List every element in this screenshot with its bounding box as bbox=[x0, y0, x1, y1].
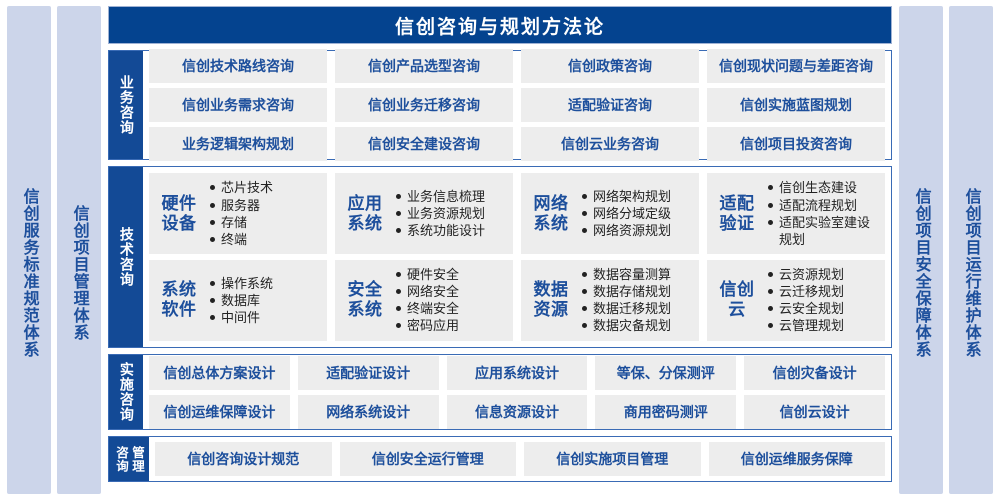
bullet-item: 云迁移规划 bbox=[767, 283, 877, 300]
card-title: 应用 系统 bbox=[343, 194, 387, 234]
chip-mgmt-0-0[interactable]: 信创咨询设计规范 bbox=[155, 442, 332, 476]
chip-impl-0-2[interactable]: 应用系统设计 bbox=[447, 356, 588, 390]
bullet-item: 网络架构规划 bbox=[581, 188, 691, 205]
bullet-item: 网络资源规划 bbox=[581, 222, 691, 239]
bullet-item: 存储 bbox=[209, 214, 319, 231]
bullet-item: 终端 bbox=[209, 231, 319, 248]
chip-impl-1-1[interactable]: 网络系统设计 bbox=[298, 395, 439, 429]
bullet-item: 云管理规划 bbox=[767, 317, 877, 334]
bullet-item: 中间件 bbox=[209, 309, 319, 326]
pillar-label: 信创项目安全保障体系 bbox=[912, 188, 929, 358]
section-technical-consulting: 技术咨询 硬件 设备 芯片技术 服务器 存储 终端 应用 系统 bbox=[108, 166, 892, 348]
chip-row: 信创咨询设计规范 信创安全运行管理 信创实施项目管理 信创运维服务保障 bbox=[155, 442, 885, 476]
chip-row: 信创技术路线咨询 信创产品选型咨询 信创政策咨询 信创现状问题与差距咨询 bbox=[149, 49, 885, 83]
section-business-consulting: 业务咨询 信创技术路线咨询 信创产品选型咨询 信创政策咨询 信创现状问题与差距咨… bbox=[108, 50, 892, 160]
chip-business-1-0[interactable]: 信创业务需求咨询 bbox=[149, 88, 327, 122]
card-hardware-devices[interactable]: 硬件 设备 芯片技术 服务器 存储 终端 bbox=[149, 173, 327, 254]
chip-impl-0-0[interactable]: 信创总体方案设计 bbox=[149, 356, 290, 390]
chip-mgmt-0-3[interactable]: 信创运维服务保障 bbox=[709, 442, 886, 476]
bullet-item: 数据容量测算 bbox=[581, 266, 691, 283]
bullet-item: 硬件安全 bbox=[395, 266, 505, 283]
card-row: 硬件 设备 芯片技术 服务器 存储 终端 应用 系统 业务信息梳理 业务资源规划 bbox=[149, 173, 885, 254]
chip-business-2-2[interactable]: 信创云业务咨询 bbox=[521, 127, 699, 161]
chip-impl-0-4[interactable]: 信创灾备设计 bbox=[744, 356, 885, 390]
card-security-system[interactable]: 安全 系统 硬件安全 网络安全 终端安全 密码应用 bbox=[335, 260, 513, 341]
card-title: 适配 验证 bbox=[715, 194, 759, 234]
card-title: 系统 软件 bbox=[157, 280, 201, 320]
bullet-item: 云安全规划 bbox=[767, 300, 877, 317]
right-pillar-group: 信创项目安全保障体系 信创项目运行维护体系 bbox=[896, 0, 1000, 496]
chip-impl-1-2[interactable]: 信息资源设计 bbox=[447, 395, 588, 429]
section-consulting-management: 咨询 管理 信创咨询设计规范 信创安全运行管理 信创实施项目管理 信创运维服务保… bbox=[108, 436, 892, 482]
card-bullet-list: 操作系统 数据库 中间件 bbox=[209, 275, 319, 326]
bullet-item: 数据灾备规划 bbox=[581, 317, 691, 334]
section-label-implementation: 实施咨询 bbox=[109, 355, 143, 429]
card-network-system[interactable]: 网络 系统 网络架构规划 网络分域定级 网络资源规划 bbox=[521, 173, 699, 254]
bullet-item: 密码应用 bbox=[395, 317, 505, 334]
pillar-label: 信创项目管理体系 bbox=[70, 205, 87, 341]
bullet-item: 云资源规划 bbox=[767, 266, 877, 283]
bullet-item: 操作系统 bbox=[209, 275, 319, 292]
bullet-item: 终端安全 bbox=[395, 300, 505, 317]
bullet-item: 数据迁移规划 bbox=[581, 300, 691, 317]
card-bullet-list: 硬件安全 网络安全 终端安全 密码应用 bbox=[395, 266, 505, 335]
left-pillar-group: 信创服务标准规范体系 信创项目管理体系 bbox=[0, 0, 104, 496]
chip-business-1-1[interactable]: 信创业务迁移咨询 bbox=[335, 88, 513, 122]
chip-impl-1-3[interactable]: 商用密码测评 bbox=[595, 395, 736, 429]
section-implementation-consulting: 实施咨询 信创总体方案设计 适配验证设计 应用系统设计 等保、分保测评 信创灾备… bbox=[108, 354, 892, 430]
section-label-management: 咨询 管理 bbox=[109, 437, 149, 481]
card-bullet-list: 信创生态建设 适配流程规划 适配实验室建设规划 bbox=[767, 179, 877, 248]
card-data-resources[interactable]: 数据 资源 数据容量测算 数据存储规划 数据迁移规划 数据灾备规划 bbox=[521, 260, 699, 341]
bullet-item: 网络分域定级 bbox=[581, 205, 691, 222]
section-label-management-col2: 管理 bbox=[130, 446, 144, 473]
bullet-item: 网络安全 bbox=[395, 283, 505, 300]
bullet-item: 信创生态建设 bbox=[767, 179, 877, 196]
chip-impl-1-4[interactable]: 信创云设计 bbox=[744, 395, 885, 429]
chip-impl-1-0[interactable]: 信创运维保障设计 bbox=[149, 395, 290, 429]
card-bullet-list: 数据容量测算 数据存储规划 数据迁移规划 数据灾备规划 bbox=[581, 266, 691, 335]
card-title: 安全 系统 bbox=[343, 280, 387, 320]
chip-business-2-0[interactable]: 业务逻辑架构规划 bbox=[149, 127, 327, 161]
pillar-project-security: 信创项目安全保障体系 bbox=[899, 6, 943, 494]
pillar-project-management: 信创项目管理体系 bbox=[57, 6, 101, 494]
card-row: 系统 软件 操作系统 数据库 中间件 安全 系统 硬件安全 网络安全 终端安全 bbox=[149, 260, 885, 341]
chip-business-0-1[interactable]: 信创产品选型咨询 bbox=[335, 49, 513, 83]
bullet-item: 业务信息梳理 bbox=[395, 188, 505, 205]
chip-row: 信创总体方案设计 适配验证设计 应用系统设计 等保、分保测评 信创灾备设计 bbox=[149, 356, 885, 390]
page-title: 信创咨询与规划方法论 bbox=[108, 6, 892, 44]
diagram-canvas: 信创服务标准规范体系 信创项目管理体系 信创咨询与规划方法论 业务咨询 信创技术… bbox=[0, 0, 1000, 496]
card-title: 网络 系统 bbox=[529, 194, 573, 234]
chip-row: 信创运维保障设计 网络系统设计 信息资源设计 商用密码测评 信创云设计 bbox=[149, 395, 885, 429]
center-column: 信创咨询与规划方法论 业务咨询 信创技术路线咨询 信创产品选型咨询 信创政策咨询… bbox=[104, 0, 896, 496]
card-bullet-list: 业务信息梳理 业务资源规划 系统功能设计 bbox=[395, 188, 505, 239]
chip-row: 业务逻辑架构规划 信创安全建设咨询 信创云业务咨询 信创项目投资咨询 bbox=[149, 127, 885, 161]
card-title: 硬件 设备 bbox=[157, 194, 201, 234]
bullet-item: 业务资源规划 bbox=[395, 205, 505, 222]
section-body-management: 信创咨询设计规范 信创安全运行管理 信创实施项目管理 信创运维服务保障 bbox=[149, 437, 891, 481]
bullet-item: 系统功能设计 bbox=[395, 222, 505, 239]
card-bullet-list: 云资源规划 云迁移规划 云安全规划 云管理规划 bbox=[767, 266, 877, 335]
section-label-management-col1: 咨询 bbox=[114, 446, 128, 473]
section-body-implementation: 信创总体方案设计 适配验证设计 应用系统设计 等保、分保测评 信创灾备设计 信创… bbox=[143, 355, 891, 429]
card-xinchuang-cloud[interactable]: 信创 云 云资源规划 云迁移规划 云安全规划 云管理规划 bbox=[707, 260, 885, 341]
bullet-item: 数据库 bbox=[209, 292, 319, 309]
card-system-software[interactable]: 系统 软件 操作系统 数据库 中间件 bbox=[149, 260, 327, 341]
card-bullet-list: 网络架构规划 网络分域定级 网络资源规划 bbox=[581, 188, 691, 239]
section-body-business: 信创技术路线咨询 信创产品选型咨询 信创政策咨询 信创现状问题与差距咨询 信创业… bbox=[143, 51, 891, 159]
bullet-item: 芯片技术 bbox=[209, 179, 319, 196]
pillar-project-maintenance: 信创项目运行维护体系 bbox=[949, 6, 993, 494]
chip-business-1-3[interactable]: 信创实施蓝图规划 bbox=[707, 88, 885, 122]
section-label-technical: 技术咨询 bbox=[109, 167, 143, 347]
chip-business-1-2[interactable]: 适配验证咨询 bbox=[521, 88, 699, 122]
chip-impl-0-3[interactable]: 等保、分保测评 bbox=[595, 356, 736, 390]
card-title: 数据 资源 bbox=[529, 280, 573, 320]
chip-business-0-3[interactable]: 信创现状问题与差距咨询 bbox=[707, 49, 885, 83]
card-adaptation-verification[interactable]: 适配 验证 信创生态建设 适配流程规划 适配实验室建设规划 bbox=[707, 173, 885, 254]
pillar-label: 信创服务标准规范体系 bbox=[20, 188, 37, 358]
section-label-business: 业务咨询 bbox=[109, 51, 143, 159]
card-bullet-list: 芯片技术 服务器 存储 终端 bbox=[209, 179, 319, 248]
chip-row: 信创业务需求咨询 信创业务迁移咨询 适配验证咨询 信创实施蓝图规划 bbox=[149, 88, 885, 122]
bullet-item: 适配实验室建设规划 bbox=[767, 214, 877, 248]
bullet-item: 服务器 bbox=[209, 197, 319, 214]
chip-business-0-2[interactable]: 信创政策咨询 bbox=[521, 49, 699, 83]
bullet-item: 适配流程规划 bbox=[767, 197, 877, 214]
chip-business-0-0[interactable]: 信创技术路线咨询 bbox=[149, 49, 327, 83]
pillar-label: 信创项目运行维护体系 bbox=[962, 188, 979, 358]
card-application-system[interactable]: 应用 系统 业务信息梳理 业务资源规划 系统功能设计 bbox=[335, 173, 513, 254]
bullet-item: 数据存储规划 bbox=[581, 283, 691, 300]
chip-impl-0-1[interactable]: 适配验证设计 bbox=[298, 356, 439, 390]
chip-business-2-1[interactable]: 信创安全建设咨询 bbox=[335, 127, 513, 161]
card-title: 信创 云 bbox=[715, 280, 759, 320]
chip-business-2-3[interactable]: 信创项目投资咨询 bbox=[707, 127, 885, 161]
chip-mgmt-0-2[interactable]: 信创实施项目管理 bbox=[524, 442, 701, 476]
chip-mgmt-0-1[interactable]: 信创安全运行管理 bbox=[340, 442, 517, 476]
section-body-technical: 硬件 设备 芯片技术 服务器 存储 终端 应用 系统 业务信息梳理 业务资源规划 bbox=[143, 167, 891, 347]
pillar-service-standard: 信创服务标准规范体系 bbox=[7, 6, 51, 494]
